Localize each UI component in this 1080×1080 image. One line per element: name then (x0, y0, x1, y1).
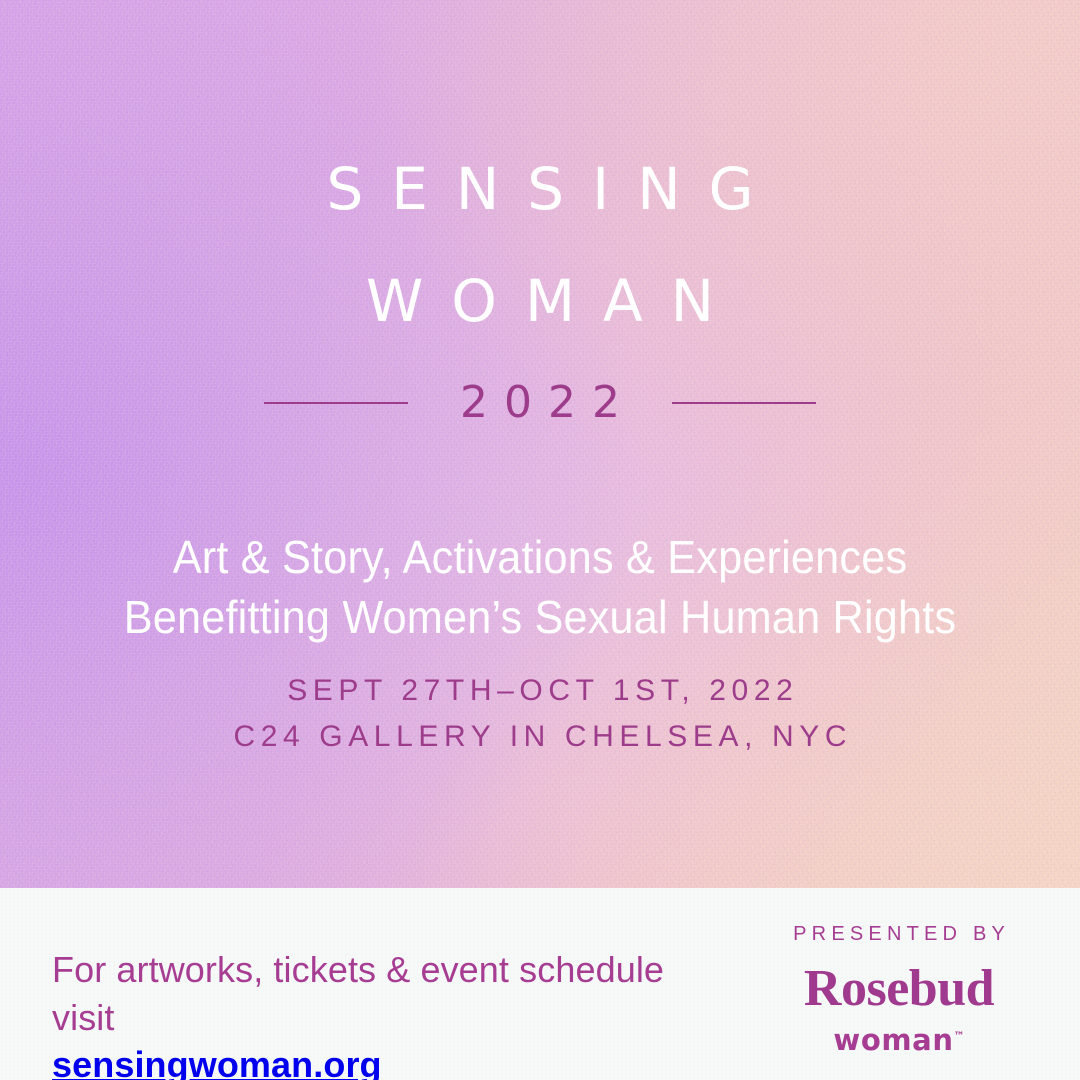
event-details: SEPT 27TH–OCT 1ST, 2022 C24 GALLERY IN C… (0, 668, 1080, 759)
brand-wordmark-woman: woman™ (774, 1026, 1024, 1055)
cta-line-2: visit sensingwoman.org (52, 994, 664, 1080)
event-dates: SEPT 27TH–OCT 1ST, 2022 (0, 668, 1080, 714)
website-link[interactable]: sensingwoman.org (52, 1044, 382, 1080)
poster-title-line-2: WOMAN (0, 272, 1080, 330)
event-venue: C24 GALLERY IN CHELSEA, NYC (0, 714, 1080, 760)
event-poster: SENSING WOMAN 2022 Art & Story, Activati… (0, 0, 1080, 1080)
footer-band: For artworks, tickets & event schedule v… (0, 888, 1080, 1080)
poster-tagline: Art & Story, Activations & Experiences B… (32, 528, 1047, 648)
hero-section: SENSING WOMAN 2022 Art & Story, Activati… (0, 0, 1080, 888)
poster-title-line-1: SENSING (0, 160, 1080, 218)
presented-by-label: PRESENTED BY (774, 924, 1024, 944)
tagline-line-2: Benefitting Women’s Sexual Human Rights (32, 588, 1047, 648)
year-block: 2022 (0, 381, 1080, 425)
brand-wordmark-rosebud: Rosebud (774, 963, 1024, 1015)
poster-year: 2022 (444, 381, 636, 425)
cta-visit-label: visit (52, 994, 664, 1042)
year-rule-left (264, 402, 408, 404)
trademark-icon: ™ (954, 1029, 965, 1042)
cta-line-1: For artworks, tickets & event schedule (52, 946, 664, 994)
cta-block: For artworks, tickets & event schedule v… (52, 946, 664, 1080)
tagline-line-1: Art & Story, Activations & Experiences (32, 528, 1047, 588)
year-rule-right (672, 402, 816, 404)
brand-woman-text: woman (833, 1023, 953, 1057)
sponsor-logo: PRESENTED BY Rosebud woman™ (774, 924, 1024, 1055)
